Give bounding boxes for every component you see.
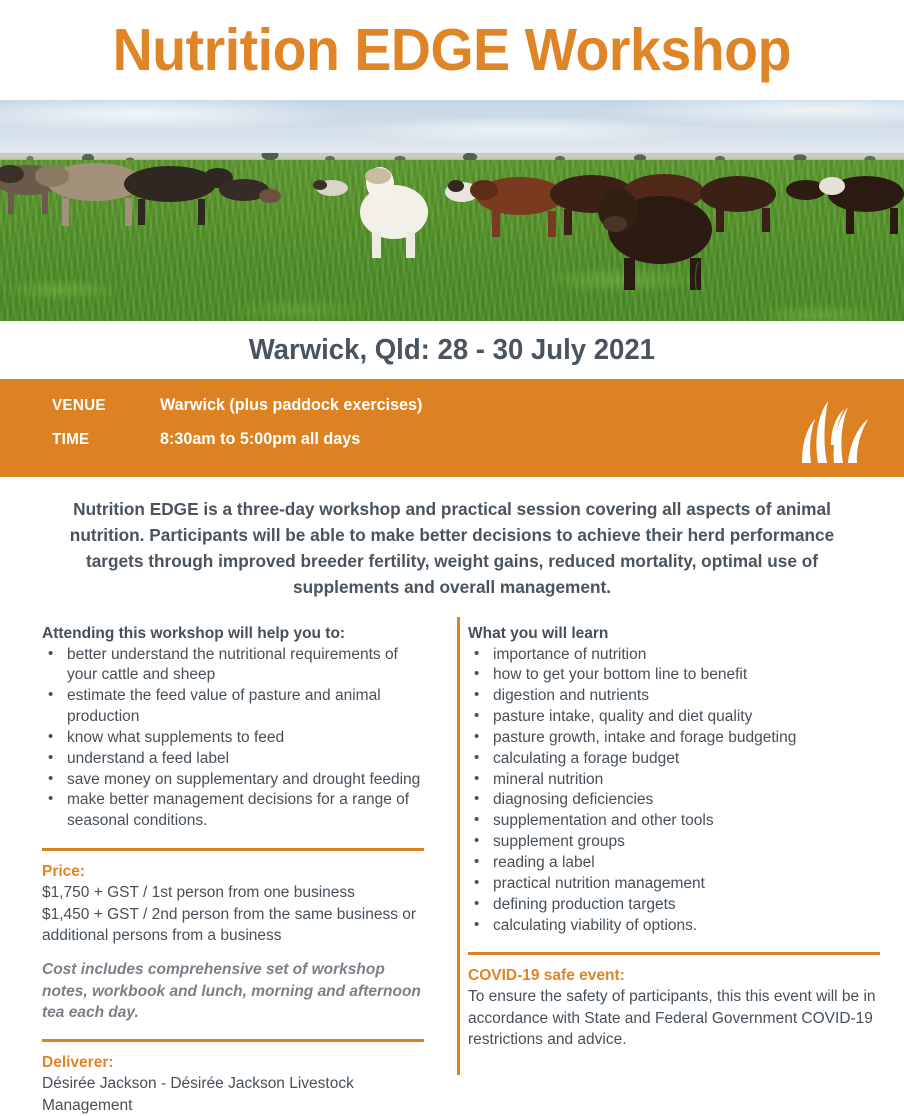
cost-inclusions-note: Cost includes comprehensive set of works… <box>42 959 422 1023</box>
covid-body: To ensure the safety of participants, th… <box>468 986 890 1050</box>
benefits-list: better understand the nutritional requir… <box>42 645 422 833</box>
price-line-2: $1,450 + GST / 2nd person from the same … <box>42 904 422 947</box>
deliverer-label: Deliverer: <box>42 1054 422 1072</box>
list-item: calculating a forage budget <box>468 749 890 770</box>
deliverer-divider <box>42 1039 424 1042</box>
list-item: digestion and nutrients <box>468 686 890 707</box>
covid-divider <box>468 952 880 955</box>
dateline-bar: Warwick, Qld: 28 - 30 July 2021 <box>0 321 904 379</box>
price-line-1: $1,750 + GST / 1st person from one busin… <box>42 882 422 903</box>
list-item: estimate the feed value of pasture and a… <box>42 686 422 728</box>
price-divider <box>42 848 424 851</box>
right-column: What you will learn importance of nutrit… <box>448 625 904 1116</box>
list-item: importance of nutrition <box>468 645 890 666</box>
covid-label: COVID-19 safe event: <box>468 967 890 985</box>
time-value: 8:30am to 5:00pm all days <box>160 429 360 449</box>
list-item: how to get your bottom line to benefit <box>468 665 890 686</box>
venue-row: VENUE Warwick (plus paddock exercises) <box>52 395 904 429</box>
content-columns: Attending this workshop will help you to… <box>0 611 904 1116</box>
list-item: pasture intake, quality and diet quality <box>468 707 890 728</box>
venue-value: Warwick (plus paddock exercises) <box>160 395 422 415</box>
list-item: supplementation and other tools <box>468 811 890 832</box>
list-item: supplement groups <box>468 832 890 853</box>
learn-list: importance of nutrition how to get your … <box>468 645 890 937</box>
flyer-page: Nutrition EDGE Workshop <box>0 0 904 1088</box>
list-item: understand a feed label <box>42 749 422 770</box>
list-item: pasture growth, intake and forage budget… <box>468 728 890 749</box>
learn-heading: What you will learn <box>468 625 890 643</box>
deliverer-name: Désirée Jackson - Désirée Jackson Livest… <box>42 1073 422 1116</box>
grass-logo-icon <box>790 393 886 465</box>
list-item: mineral nutrition <box>468 770 890 791</box>
list-item: make better management decisions for a r… <box>42 790 422 832</box>
list-item: save money on supplementary and drought … <box>42 770 422 791</box>
list-item: practical nutrition management <box>468 874 890 895</box>
left-column: Attending this workshop will help you to… <box>0 625 448 1116</box>
intro-paragraph: Nutrition EDGE is a three-day workshop a… <box>7 477 897 611</box>
venue-time-band: VENUE Warwick (plus paddock exercises) T… <box>0 379 904 477</box>
time-label: TIME <box>52 431 155 449</box>
list-item: know what supplements to feed <box>42 728 422 749</box>
venue-label: VENUE <box>52 397 155 415</box>
title-bar: Nutrition EDGE Workshop <box>0 0 904 100</box>
list-item: better understand the nutritional requir… <box>42 645 422 687</box>
list-item: defining production targets <box>468 895 890 916</box>
list-item: diagnosing deficiencies <box>468 790 890 811</box>
hero-photo-cattle-pasture <box>0 100 904 321</box>
page-title: Nutrition EDGE Workshop <box>113 21 791 80</box>
list-item: reading a label <box>468 853 890 874</box>
cattle-herd <box>0 100 904 321</box>
price-label: Price: <box>42 863 422 881</box>
benefits-heading: Attending this workshop will help you to… <box>42 625 422 643</box>
time-row: TIME 8:30am to 5:00pm all days <box>52 429 904 463</box>
list-item: calculating viability of options. <box>468 916 890 937</box>
column-divider <box>457 617 460 1075</box>
event-location-date: Warwick, Qld: 28 - 30 July 2021 <box>249 334 655 367</box>
